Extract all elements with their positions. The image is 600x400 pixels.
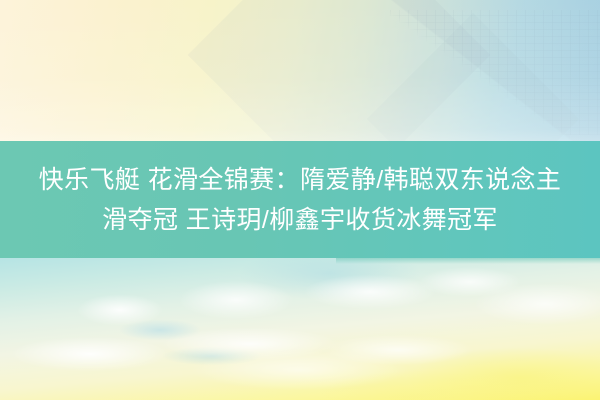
- caption-line-2: 滑夺冠 王诗玥/柳鑫宇收货冰舞冠军: [102, 200, 498, 240]
- top-band-veil: [0, 0, 600, 141]
- top-gradient-band: [0, 0, 600, 141]
- banner-image: 快乐飞艇 花滑全锦赛：隋爱静/韩聪双东说念主 滑夺冠 王诗玥/柳鑫宇收货冰舞冠军: [0, 0, 600, 400]
- caption-band: 快乐飞艇 花滑全锦赛：隋爱静/韩聪双东说念主 滑夺冠 王诗玥/柳鑫宇收货冰舞冠军: [0, 141, 600, 258]
- bottom-sky-band: [0, 258, 600, 400]
- sky-warm-glow: [0, 258, 600, 400]
- caption-band-bleed: [336, 258, 600, 264]
- caption-line-1: 快乐飞艇 花滑全锦赛：隋爱静/韩聪双东说念主: [39, 160, 562, 200]
